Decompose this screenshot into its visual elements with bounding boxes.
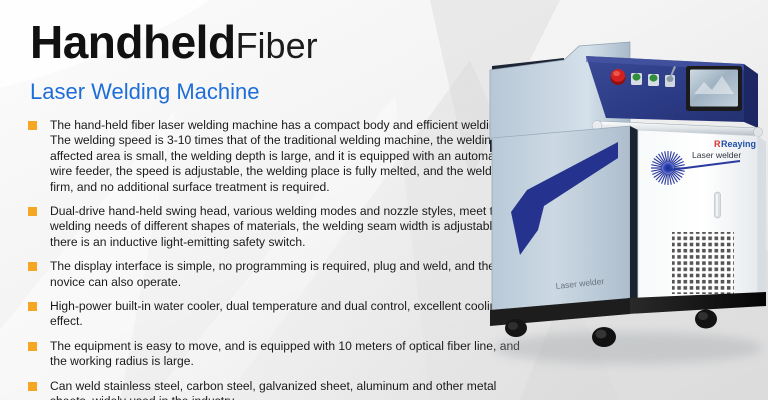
brand-logo-text: Reaying	[721, 139, 756, 149]
feature-text: The hand-held fiber laser welding machin…	[50, 118, 525, 194]
feature-text: Can weld stainless steel, carbon steel, …	[50, 379, 496, 400]
headline-bold: Handheld	[30, 16, 236, 68]
list-item: High-power built-in water cooler, dual t…	[28, 299, 528, 330]
list-item: The display interface is simple, no prog…	[28, 259, 528, 290]
feature-text: Dual-drive hand-held swing head, various…	[50, 204, 526, 249]
list-item: The hand-held fiber laser welding machin…	[28, 118, 528, 195]
vent-grille	[672, 232, 734, 294]
bullet-square-icon	[28, 302, 37, 311]
bullet-square-icon	[28, 207, 37, 216]
feature-text: The display interface is simple, no prog…	[50, 259, 495, 288]
product-banner: HandheldFiber Laser Welding Machine The …	[0, 0, 768, 400]
list-item: The equipment is easy to move, and is eq…	[28, 339, 528, 370]
page-subtitle: Laser Welding Machine	[30, 78, 260, 106]
brand-logo: R Reaying	[714, 139, 756, 149]
bullet-square-icon	[28, 342, 37, 351]
list-item: Can weld stainless steel, carbon steel, …	[28, 379, 528, 400]
feature-list: The hand-held fiber laser welding machin…	[28, 118, 528, 400]
bullet-square-icon	[28, 121, 37, 130]
bullet-square-icon	[28, 382, 37, 391]
page-title: HandheldFiber	[30, 16, 318, 72]
product-image-laser-welder: Laser welder Laser welder	[478, 0, 768, 400]
feature-text: The equipment is easy to move, and is eq…	[50, 339, 520, 368]
door-handle-icon	[715, 192, 721, 218]
brand-logo-mark: R	[714, 139, 721, 149]
headline-light: Fiber	[236, 25, 318, 66]
feature-text: High-power built-in water cooler, dual t…	[50, 299, 503, 328]
front-brand-label: Laser welder	[692, 150, 741, 160]
bullet-square-icon	[28, 262, 37, 271]
text-column: HandheldFiber Laser Welding Machine The …	[0, 0, 545, 400]
list-item: Dual-drive hand-held swing head, various…	[28, 204, 528, 250]
lcd-screen	[686, 66, 742, 111]
